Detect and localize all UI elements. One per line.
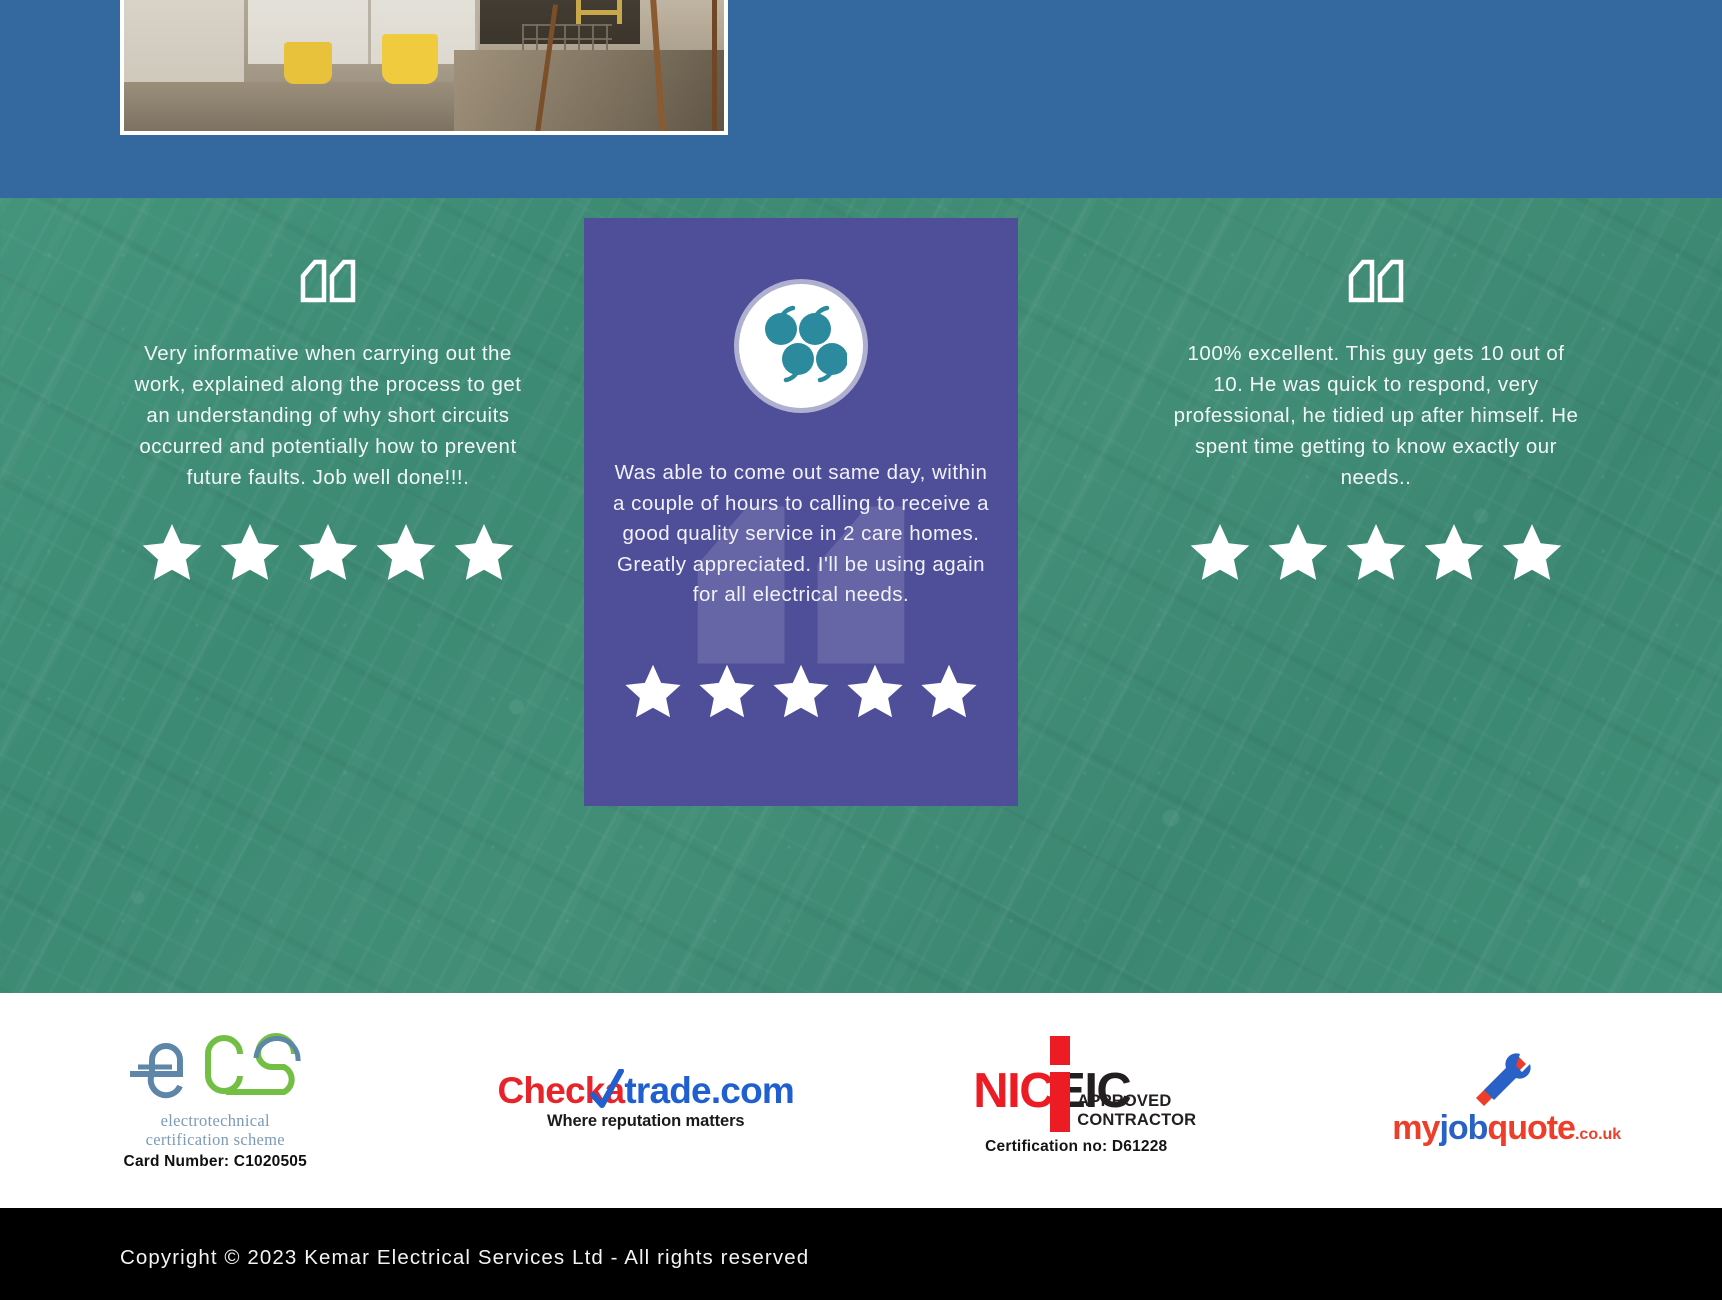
photo-bucket-1 xyxy=(284,42,332,84)
star-icon xyxy=(620,660,686,723)
quote-icon xyxy=(1347,258,1405,304)
niceic-word-nic: NIC xyxy=(973,1064,1053,1118)
copyright-text: Copyright © 2023 Kemar Electrical Servic… xyxy=(120,1246,809,1270)
photo-door-frame xyxy=(368,0,371,64)
myjobquote-wordmark: myjobquote.co.uk xyxy=(1392,1110,1621,1153)
testimonial-card-left: Very informative when carrying out the w… xyxy=(112,258,544,586)
photo-rubble xyxy=(454,50,724,135)
myjobquote-word-job: job xyxy=(1439,1109,1487,1147)
star-icon xyxy=(1263,519,1333,586)
accreditation-strip: electrotechnical certification scheme Ca… xyxy=(0,993,1722,1208)
testimonial-text: Was able to come out same day, within a … xyxy=(584,458,1018,611)
star-icon xyxy=(449,519,519,586)
checkatrade-word-trade: trade xyxy=(624,1070,710,1111)
niceic-logo-icon: NICEIC APPROVED CONTRACTOR xyxy=(973,1046,1179,1132)
checkatrade-word-check: Chec xyxy=(498,1070,585,1111)
intro-photo xyxy=(120,0,728,135)
accreditation-myjobquote[interactable]: myjobquote.co.uk xyxy=(1292,1048,1722,1153)
myjobquote-word-my: my xyxy=(1392,1109,1439,1147)
niceic-certification-number: Certification no: D61228 xyxy=(985,1138,1167,1156)
testimonial-text: Very informative when carrying out the w… xyxy=(112,338,544,493)
star-icon xyxy=(1419,519,1489,586)
star-icon xyxy=(137,519,207,586)
avatar xyxy=(739,284,863,408)
star-icon xyxy=(1185,519,1255,586)
star-icon xyxy=(293,519,363,586)
star-icon xyxy=(768,660,834,723)
testimonial-text: 100% excellent. This guy gets 10 out of … xyxy=(1160,338,1592,493)
intro-band: exceptional service, and we are committe… xyxy=(0,0,1722,198)
checkatrade-word-com: .com xyxy=(711,1070,794,1111)
testimonial-card-right: 100% excellent. This guy gets 10 out of … xyxy=(1160,258,1592,586)
star-icon xyxy=(842,660,908,723)
quote-icon xyxy=(299,258,357,304)
accreditation-checkatrade[interactable]: Checkatrade.com Where reputation matters xyxy=(431,1071,862,1131)
checkatrade-wordmark: Checkatrade.com xyxy=(498,1071,795,1111)
star-icon xyxy=(694,660,760,723)
testimonials-section: Very informative when carrying out the w… xyxy=(0,198,1722,993)
ecs-logo-icon xyxy=(122,1030,308,1104)
rating-stars xyxy=(1160,519,1592,586)
photo-bucket-2 xyxy=(382,34,438,84)
star-icon xyxy=(916,660,982,723)
photo-door xyxy=(248,0,478,64)
niceic-approved-contractor: APPROVED CONTRACTOR xyxy=(1077,1092,1196,1130)
myjobquote-word-quote: quote xyxy=(1487,1109,1575,1147)
rating-stars xyxy=(584,660,1018,723)
checkmark-icon xyxy=(590,1069,624,1109)
quote-icon xyxy=(755,303,847,389)
testimonial-card-center-featured: Was able to come out same day, within a … xyxy=(584,218,1018,806)
myjobquote-word-tld: .co.uk xyxy=(1575,1126,1621,1143)
tools-icon xyxy=(1468,1048,1546,1108)
star-icon xyxy=(371,519,441,586)
niceic-bar-gap xyxy=(1050,1065,1070,1072)
checkatrade-tagline: Where reputation matters xyxy=(498,1112,795,1131)
photo-timber-3 xyxy=(712,0,717,134)
ecs-card-number: Card Number: C1020505 xyxy=(124,1153,307,1171)
copyright-bar: Copyright © 2023 Kemar Electrical Servic… xyxy=(0,1208,1722,1300)
ecs-subtitle: electrotechnical certification scheme xyxy=(146,1111,285,1149)
niceic-red-bar xyxy=(1050,1036,1070,1132)
star-icon xyxy=(215,519,285,586)
accreditation-niceic[interactable]: NICEIC APPROVED CONTRACTOR Certification… xyxy=(861,1046,1292,1156)
star-icon xyxy=(1497,519,1567,586)
rating-stars xyxy=(112,519,544,586)
accreditation-ecs[interactable]: electrotechnical certification scheme Ca… xyxy=(0,1030,431,1171)
star-icon xyxy=(1341,519,1411,586)
photo-ladder xyxy=(576,0,622,24)
